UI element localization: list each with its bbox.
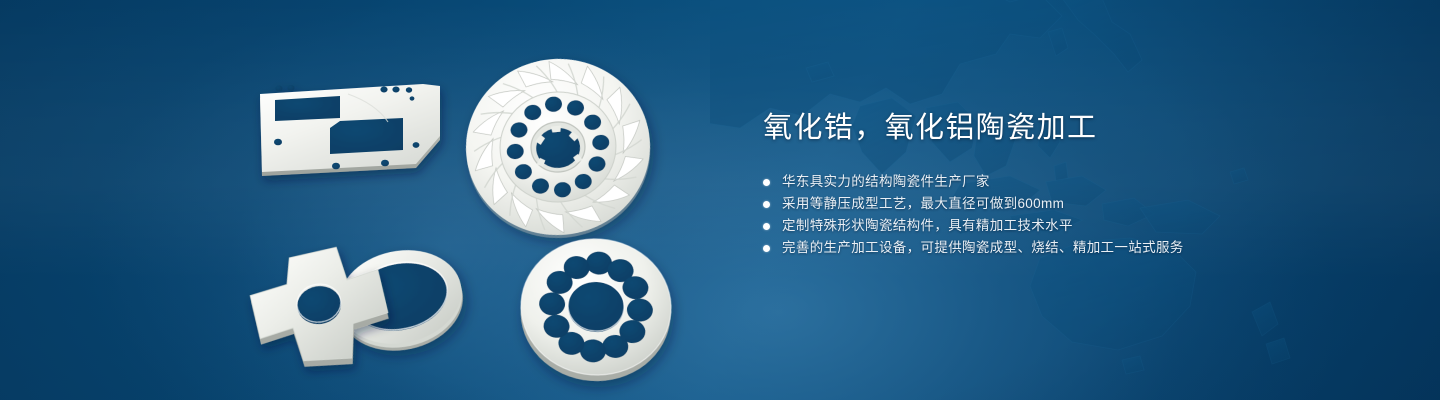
promo-banner: 氧化锆，氧化铝陶瓷加工 华东具实力的结构陶瓷件生产厂家 采用等静压成型工艺，最大… (0, 0, 1440, 400)
feature-text-2: 采用等静压成型工艺，最大直径可做到600mm (782, 193, 1064, 215)
banner-copy: 氧化锆，氧化铝陶瓷加工 华东具实力的结构陶瓷件生产厂家 采用等静压成型工艺，最大… (763, 112, 1383, 259)
bullet-dot-icon (763, 245, 770, 252)
banner-headline: 氧化锆，氧化铝陶瓷加工 (763, 112, 1383, 145)
feature-item-2: 采用等静压成型工艺，最大直径可做到600mm (763, 193, 1383, 215)
feature-text-3: 定制特殊形状陶瓷结构件，具有精加工技术水平 (782, 215, 1073, 237)
ceramic-machined-plate (260, 84, 440, 176)
bullet-dot-icon (763, 179, 770, 186)
bullet-dot-icon (763, 223, 770, 230)
banner-feature-list: 华东具实力的结构陶瓷件生产厂家 采用等静压成型工艺，最大直径可做到600mm 定… (763, 171, 1383, 259)
bullet-dot-icon (763, 201, 770, 208)
feature-item-4: 完善的生产加工设备，可提供陶瓷成型、烧结、精加工一站式服务 (763, 237, 1383, 259)
feature-text-1: 华东具实力的结构陶瓷件生产厂家 (782, 171, 990, 193)
ceramic-perforated-disc (516, 234, 676, 386)
feature-item-1: 华东具实力的结构陶瓷件生产厂家 (763, 171, 1383, 193)
feature-text-4: 完善的生产加工设备，可提供陶瓷成型、烧结、精加工一站式服务 (782, 237, 1184, 259)
ceramic-products-image (248, 42, 718, 372)
feature-item-3: 定制特殊形状陶瓷结构件，具有精加工技术水平 (763, 215, 1383, 237)
ceramic-impeller-disc (457, 48, 659, 247)
